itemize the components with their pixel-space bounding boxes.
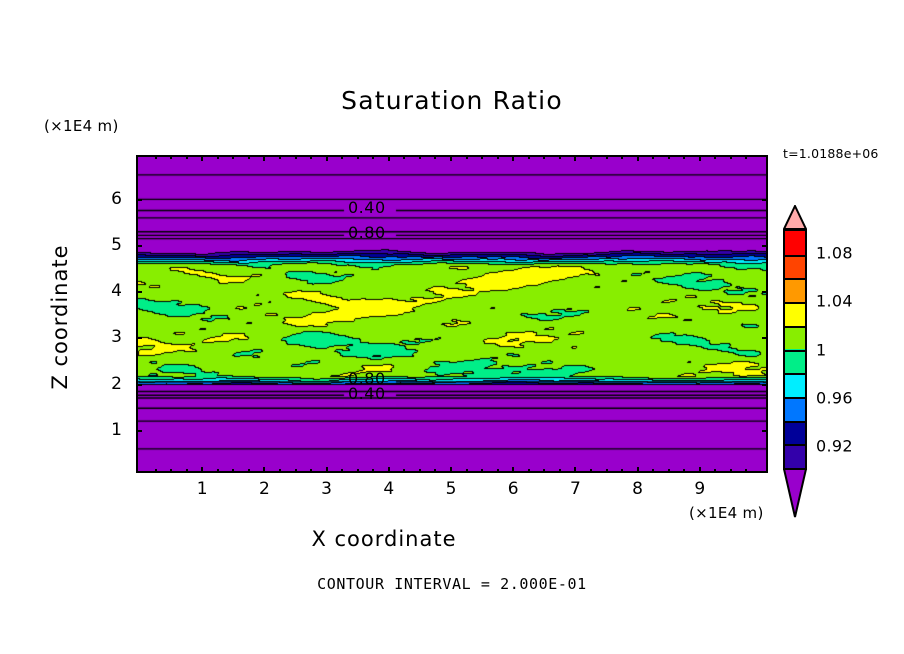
- x-minor-tick: [668, 469, 670, 473]
- x-tick-label: 5: [431, 479, 471, 499]
- colorbar-band: [785, 421, 805, 445]
- x-minor-tick: [512, 155, 514, 159]
- colorbar-separator: [785, 397, 805, 399]
- x-minor-tick: [481, 155, 483, 159]
- x-minor-tick: [419, 155, 421, 159]
- x-minor-tick: [403, 469, 405, 473]
- y-tick: [762, 291, 768, 293]
- page-title: Saturation Ratio: [0, 86, 904, 115]
- y-tick: [136, 384, 142, 386]
- x-minor-tick: [248, 155, 250, 159]
- y-tick-label: 6: [96, 189, 122, 209]
- x-minor-tick: [559, 155, 561, 159]
- y-axis-title: Z coordinate: [48, 197, 72, 437]
- x-minor-tick: [590, 155, 592, 159]
- x-minor-tick: [714, 469, 716, 473]
- x-minor-tick: [279, 155, 281, 159]
- y-tick: [136, 337, 142, 339]
- y-tick-label: 5: [96, 235, 122, 255]
- x-minor-tick: [668, 155, 670, 159]
- x-minor-tick: [263, 469, 265, 473]
- colorbar-band: [785, 302, 805, 326]
- x-minor-tick: [434, 469, 436, 473]
- x-minor-tick: [217, 155, 219, 159]
- x-minor-tick: [466, 155, 468, 159]
- colorbar: [783, 229, 807, 470]
- x-minor-tick: [528, 155, 530, 159]
- x-minor-tick: [652, 469, 654, 473]
- x-minor-tick: [155, 469, 157, 473]
- x-minor-tick: [543, 469, 545, 473]
- colorbar-band: [785, 444, 805, 468]
- x-minor-tick: [341, 155, 343, 159]
- y-tick-label: 1: [96, 420, 122, 440]
- x-minor-tick: [310, 155, 312, 159]
- x-minor-tick: [403, 155, 405, 159]
- x-tick-label: 9: [680, 479, 720, 499]
- x-tick-label: 6: [493, 479, 533, 499]
- x-minor-tick: [637, 155, 639, 159]
- colorbar-separator: [785, 302, 805, 304]
- x-minor-tick: [295, 469, 297, 473]
- x-minor-tick: [326, 155, 328, 159]
- y-tick-label: 2: [96, 374, 122, 394]
- x-minor-tick: [263, 155, 265, 159]
- x-minor-tick: [683, 469, 685, 473]
- colorbar-tick-label: 0.92: [816, 436, 853, 455]
- y-tick: [762, 337, 768, 339]
- colorbar-band: [785, 278, 805, 302]
- x-minor-tick: [372, 469, 374, 473]
- x-minor-tick: [450, 155, 452, 159]
- x-minor-tick: [186, 155, 188, 159]
- x-tick-label: 8: [618, 479, 658, 499]
- colorbar-separator: [785, 350, 805, 352]
- x-axis-unit-label: (×1E4 m): [689, 504, 764, 522]
- x-minor-tick: [419, 469, 421, 473]
- colorbar-separator: [785, 326, 805, 328]
- x-minor-tick: [232, 155, 234, 159]
- x-minor-tick: [590, 469, 592, 473]
- x-minor-tick: [745, 469, 747, 473]
- x-minor-tick: [357, 469, 359, 473]
- y-tick-label: 4: [96, 281, 122, 301]
- figure-canvas: Saturation Ratio (×1E4 m) t=1.0188e+06 1…: [0, 0, 904, 654]
- x-minor-tick: [388, 469, 390, 473]
- x-minor-tick: [201, 469, 203, 473]
- x-minor-tick: [621, 155, 623, 159]
- colorbar-separator: [785, 421, 805, 423]
- x-minor-tick: [528, 469, 530, 473]
- x-tick-label: 4: [369, 479, 409, 499]
- x-minor-tick: [186, 469, 188, 473]
- x-minor-tick: [170, 469, 172, 473]
- colorbar-separator: [785, 255, 805, 257]
- y-tick: [762, 384, 768, 386]
- x-minor-tick: [637, 469, 639, 473]
- x-minor-tick: [683, 155, 685, 159]
- x-minor-tick: [699, 469, 701, 473]
- x-minor-tick: [434, 155, 436, 159]
- x-minor-tick: [606, 469, 608, 473]
- saturation-field: [138, 157, 766, 471]
- x-minor-tick: [699, 155, 701, 159]
- y-tick: [762, 199, 768, 201]
- x-minor-tick: [326, 469, 328, 473]
- contour-interval-caption: CONTOUR INTERVAL = 2.000E-01: [0, 575, 904, 593]
- colorbar-band: [785, 397, 805, 421]
- x-tick-label: 3: [307, 479, 347, 499]
- x-minor-tick: [745, 155, 747, 159]
- x-tick-label: 2: [244, 479, 284, 499]
- colorbar-band: [785, 255, 805, 279]
- x-minor-tick: [201, 155, 203, 159]
- x-axis-title: X coordinate: [0, 527, 768, 551]
- x-minor-tick: [295, 155, 297, 159]
- colorbar-tick-label: 0.96: [816, 388, 853, 407]
- y-tick: [762, 245, 768, 247]
- colorbar-tick-label: 1: [816, 340, 826, 359]
- x-minor-tick: [248, 469, 250, 473]
- colorbar-band: [785, 231, 805, 255]
- x-minor-tick: [155, 155, 157, 159]
- x-minor-tick: [357, 155, 359, 159]
- y-tick: [136, 199, 142, 201]
- x-minor-tick: [559, 469, 561, 473]
- colorbar-tick-label: 1.04: [816, 292, 853, 311]
- colorbar-under-arrow: [783, 468, 807, 518]
- contour-plot-area: [136, 155, 768, 473]
- x-minor-tick: [341, 469, 343, 473]
- x-minor-tick: [372, 155, 374, 159]
- x-minor-tick: [574, 155, 576, 159]
- colorbar-over-arrow: [783, 205, 807, 230]
- contour-label: 0.80: [348, 223, 386, 242]
- y-tick: [136, 430, 142, 432]
- x-minor-tick: [730, 469, 732, 473]
- x-minor-tick: [450, 469, 452, 473]
- x-minor-tick: [714, 155, 716, 159]
- y-axis-unit-label: (×1E4 m): [44, 117, 119, 135]
- contour-label: 0.40: [348, 198, 386, 217]
- x-minor-tick: [466, 469, 468, 473]
- colorbar-band: [785, 326, 805, 350]
- x-minor-tick: [170, 155, 172, 159]
- x-minor-tick: [606, 155, 608, 159]
- colorbar-tick-label: 1.08: [816, 244, 853, 263]
- x-minor-tick: [574, 469, 576, 473]
- x-minor-tick: [512, 469, 514, 473]
- y-tick: [762, 430, 768, 432]
- x-minor-tick: [652, 155, 654, 159]
- x-tick-label: 7: [555, 479, 595, 499]
- x-minor-tick: [497, 469, 499, 473]
- y-tick-label: 3: [96, 327, 122, 347]
- colorbar-band: [785, 373, 805, 397]
- colorbar-separator: [785, 373, 805, 375]
- y-tick: [136, 245, 142, 247]
- x-minor-tick: [232, 469, 234, 473]
- contour-label: 0.40: [348, 384, 386, 403]
- time-annotation: t=1.0188e+06: [783, 146, 879, 161]
- colorbar-separator: [785, 278, 805, 280]
- x-minor-tick: [497, 155, 499, 159]
- x-minor-tick: [217, 469, 219, 473]
- x-minor-tick: [730, 155, 732, 159]
- colorbar-separator: [785, 444, 805, 446]
- x-minor-tick: [279, 469, 281, 473]
- x-tick-label: 1: [182, 479, 222, 499]
- x-minor-tick: [543, 155, 545, 159]
- colorbar-band: [785, 349, 805, 373]
- x-minor-tick: [621, 469, 623, 473]
- x-minor-tick: [310, 469, 312, 473]
- x-minor-tick: [481, 469, 483, 473]
- x-minor-tick: [388, 155, 390, 159]
- y-tick: [136, 291, 142, 293]
